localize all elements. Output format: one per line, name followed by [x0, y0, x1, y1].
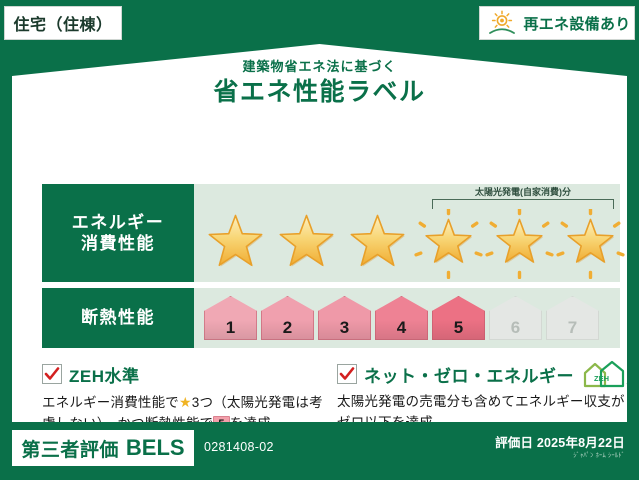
page-title: 省エネ性能ラベル	[12, 80, 627, 105]
energy-consumption-label: エネルギー 消費性能	[42, 184, 194, 282]
insulation-level-number: 3	[318, 319, 371, 336]
insulation-level-active: 3	[318, 296, 371, 340]
insulation-label-text: 断熱性能	[81, 307, 155, 328]
inline-star-icon: ★	[179, 394, 192, 410]
star-filled	[200, 209, 271, 279]
star-filled	[342, 209, 413, 279]
zeh-logo-text: ZEH	[594, 374, 609, 383]
title-subtitle: 建築物省エネ法に基づく	[12, 60, 627, 73]
insulation-level-inactive: 7	[546, 296, 599, 340]
insulation-performance-row: 断熱性能 1234567	[42, 288, 620, 348]
zeh-criteria-description: エネルギー消費性能で★3つ（太陽光発電は考慮しない）、かつ断熱性能で5を達成	[42, 392, 327, 435]
nze-criteria-description: 太陽光発電の売電分も含めてエネルギー収支がゼロ以下を達成	[337, 392, 627, 434]
insulation-level-number: 5	[432, 319, 485, 336]
nze-checkbox	[337, 364, 357, 384]
star-solar	[484, 209, 555, 279]
net-zero-energy-criteria-block: ネット・ゼロ・エネルギー ZEH ゼッチ 太陽光発電の売電分も含めてエネルギー収…	[337, 362, 627, 434]
insulation-level-active: 4	[375, 296, 428, 340]
insulation-level-number: 2	[261, 319, 314, 336]
nze-criteria-title: ネット・ゼロ・エネルギー	[364, 362, 574, 387]
zeh-desc-post: を達成	[230, 416, 271, 431]
third-party-evaluation-label: 第三者評価	[21, 435, 119, 462]
energy-label-line1: エネルギー	[72, 212, 165, 233]
footer: 第三者評価 BELS 0281408-02 評価日 2025年8月22日 ｼﾞｬ…	[12, 430, 627, 470]
insulation-level-number: 1	[204, 319, 257, 336]
insulation-level-active: 5	[432, 296, 485, 340]
energy-label-line2: 消費性能	[81, 233, 155, 254]
star-solar	[555, 209, 626, 279]
insulation-level-inactive: 6	[489, 296, 542, 340]
energy-consumption-row: エネルギー 消費性能 太陽光発電(自家消費)分	[42, 184, 620, 282]
bels-logo-text: BELS	[126, 435, 185, 461]
building-type-badge: 住宅（住棟）	[4, 6, 122, 40]
energy-performance-label: 住宅（住棟） 再エネ設備あり 建築物省エネ	[0, 0, 639, 480]
bels-certificate-number: 0281408-02	[204, 440, 274, 454]
insulation-level-number: 7	[546, 319, 599, 336]
zeh-checkbox	[42, 364, 62, 384]
solar-annotation-text: 太陽光発電(自家消費)分	[430, 185, 616, 198]
zeh-criteria-header: ZEH水準	[42, 362, 327, 386]
insulation-rating-area: 1234567	[194, 288, 620, 348]
zeh-criteria-title: ZEH水準	[69, 362, 140, 387]
star-filled	[271, 209, 342, 279]
energy-star-rating	[194, 208, 620, 280]
zeh-logo-caption: ゼッチ	[626, 381, 639, 388]
building-type-label: 住宅（住棟）	[13, 11, 112, 35]
bels-certification-box: 第三者評価 BELS	[12, 430, 194, 466]
renewable-equipment-badge: 再エネ設備あり	[479, 6, 635, 40]
evaluation-organization: ｼﾞｬﾊﾟﾝ ﾎｰﾑ ｼｰﾙﾄﾞ	[573, 449, 625, 459]
check-icon	[339, 366, 355, 382]
star-solar	[413, 209, 484, 279]
renewable-badge-label: 再エネ設備あり	[523, 13, 630, 34]
sun-solar-icon	[487, 10, 517, 36]
title-block: 建築物省エネ法に基づく 省エネ性能ラベル	[12, 60, 627, 105]
insulation-performance-label: 断熱性能	[42, 288, 194, 348]
energy-rating-area: 太陽光発電(自家消費)分	[194, 184, 620, 282]
insulation-level-number: 6	[489, 319, 542, 336]
insulation-level-active: 2	[261, 296, 314, 340]
check-icon	[44, 366, 60, 382]
insulation-level-number: 4	[375, 319, 428, 336]
zeh-criteria-block: ZEH水準 エネルギー消費性能で★3つ（太陽光発電は考慮しない）、かつ断熱性能で…	[42, 362, 327, 435]
zeh-desc-pre: エネルギー消費性能で	[42, 395, 179, 410]
zeh-house-logo: ZEH ゼッチ	[581, 360, 625, 388]
insulation-level-active: 1	[204, 296, 257, 340]
insulation-level-scale: 1234567	[194, 288, 620, 348]
label-body-panel: 建築物省エネ法に基づく 省エネ性能ラベル エネルギー 消費性能 太陽光発電(自家…	[12, 44, 627, 422]
nze-criteria-header: ネット・ゼロ・エネルギー ZEH ゼッチ	[337, 362, 627, 386]
